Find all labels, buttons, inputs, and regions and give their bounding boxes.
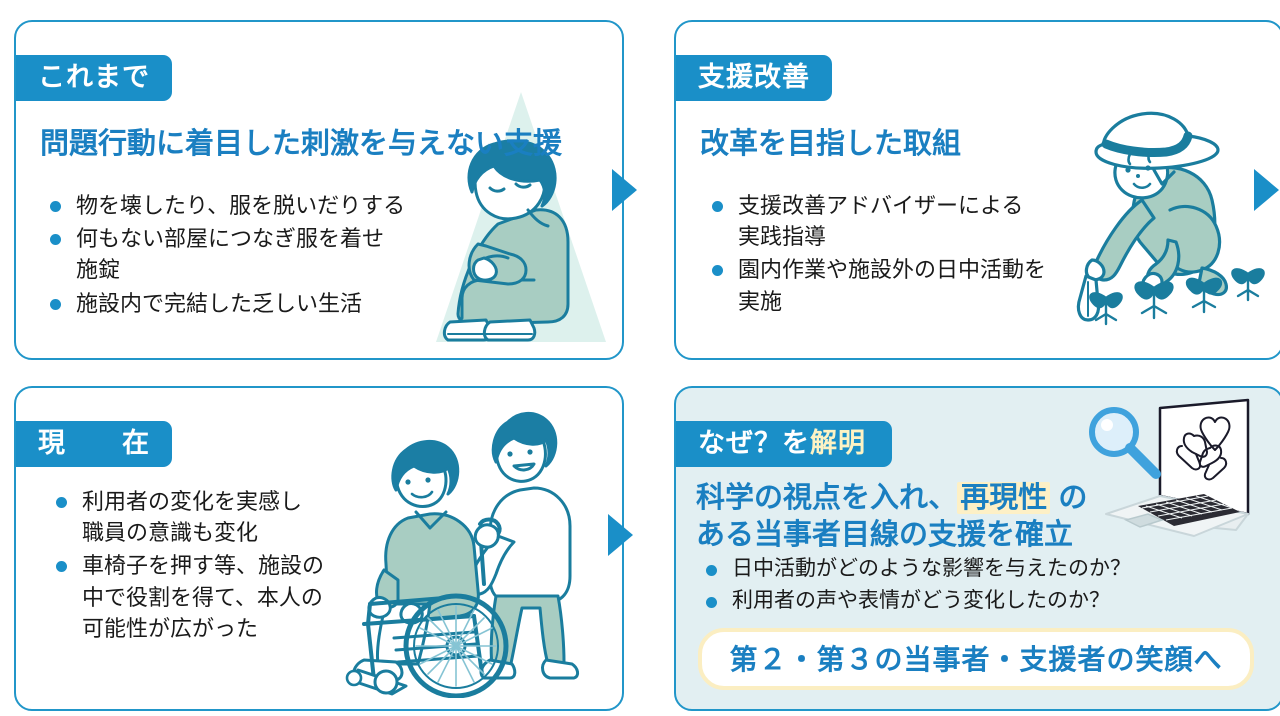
panel-why-badge: なぜ？を解明 (674, 421, 892, 467)
panel-past-badge: これまで (14, 55, 172, 101)
list-item: 利用者の変化を実感し 職員の意識も変化 (52, 486, 392, 548)
arrow-improvement-to-next-icon (1254, 169, 1279, 211)
list-item: 物を壊したり、服を脱いだりする (46, 190, 446, 221)
panel-past-headline: 問題行動に着目した刺激を与えない支援 (40, 126, 600, 163)
infographic-board: これまで 問題行動に着目した刺激を与えない支援 物を壊したり、服を脱いだりする … (0, 0, 1280, 716)
list-item: 利用者の声や表情がどう変化したのか？ (702, 586, 1262, 616)
panel-why-badge-highlight: 解明 (810, 428, 866, 458)
panel-improvement-headline: 改革を目指した取組 (700, 126, 1120, 163)
panel-improvement: 支援改善 改革を目指した取組 支援改善アドバイザーによる 実践指導 園内作業や施… (674, 20, 1280, 360)
headline-highlight: 再現性 (957, 482, 1050, 514)
list-item: 支援改善アドバイザーによる 実践指導 (708, 190, 1118, 252)
list-item: 車椅子を押す等、施設の 中で役割を得て、本人の 可能性が広がった (52, 550, 392, 644)
panel-improvement-bullet-list: 支援改善アドバイザーによる 実践指導 園内作業や施設外の日中活動を 実施 (708, 190, 1118, 319)
panel-why-badge-prefix: なぜ？を (698, 428, 810, 458)
list-item: 何もない部屋につなぎ服を着せ 施錠 (46, 223, 446, 285)
list-item: 日中活動がどのような影響を与えたのか？ (702, 554, 1262, 584)
panel-why-bullet-list: 日中活動がどのような影響を与えたのか？ 利用者の声や表情がどう変化したのか？ (702, 554, 1262, 618)
panel-why-headline: 科学の視点を入れ、再現性 の ある当事者目線の支援を確立 (696, 480, 1116, 554)
headline-part-1: 科学の視点を入れ、 (696, 482, 957, 514)
panel-past-bullet-list: 物を壊したり、服を脱いだりする 何もない部屋につなぎ服を着せ 施錠 施設内で完結… (46, 190, 446, 321)
panel-present-badge: 現 在 (14, 421, 172, 467)
list-item: 施設内で完結した乏しい生活 (46, 288, 446, 319)
panel-improvement-badge: 支援改善 (674, 55, 832, 101)
panel-past: これまで 問題行動に着目した刺激を与えない支援 物を壊したり、服を脱いだりする … (14, 20, 624, 360)
panel-why: なぜ？を解明 科学の視点を入れ、再現性 の ある当事者目線の支援を確立 日中活動… (674, 386, 1280, 711)
panel-present-bullet-list: 利用者の変化を実感し 職員の意識も変化 車椅子を押す等、施設の 中で役割を得て、… (52, 486, 392, 646)
arrow-past-to-improvement-icon (612, 169, 637, 211)
panel-why-banner: 第２・第３の当事者・支援者の笑顔へ (698, 628, 1254, 690)
list-item: 園内作業や施設外の日中活動を 実施 (708, 254, 1118, 316)
panel-present: 現 在 利用者の変化を実感し 職員の意識も変化 車椅子を押す等、施設の 中で役割… (14, 386, 624, 711)
arrow-present-to-why-icon (608, 514, 633, 556)
